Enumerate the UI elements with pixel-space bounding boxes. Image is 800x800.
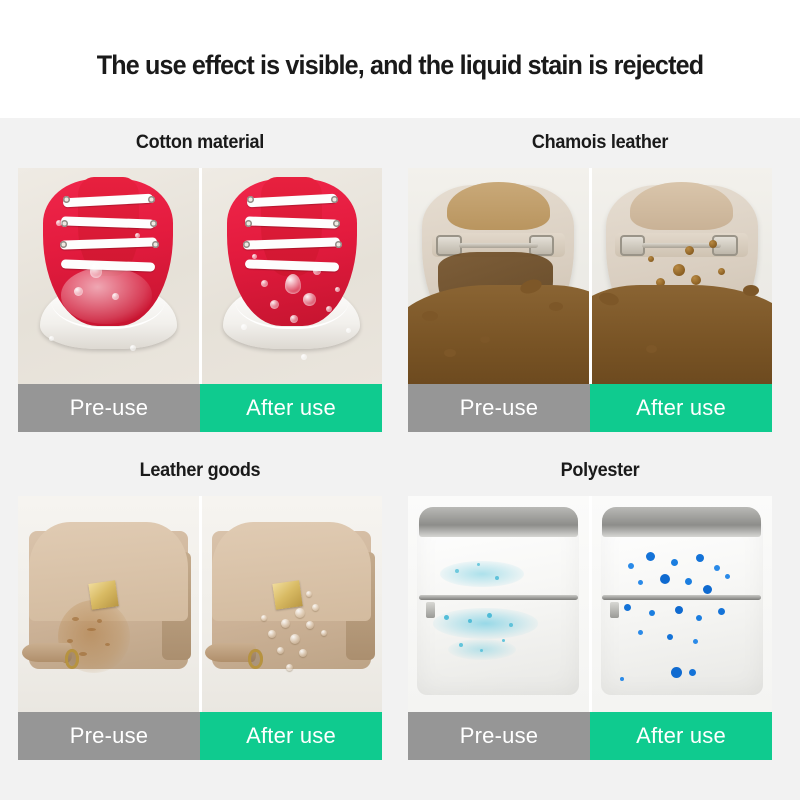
comparison-image-leather: Pre-use After use xyxy=(18,496,382,760)
pre-use-image-cotton xyxy=(18,168,199,384)
comparison-image-polyester: Pre-use After use xyxy=(408,496,772,760)
pre-use-image-chamois xyxy=(408,168,589,384)
after-use-image-cotton xyxy=(199,168,383,384)
image-halves-cotton xyxy=(18,168,382,384)
caption-after-use-chamois: After use xyxy=(590,384,772,432)
panel-chamois-leather: Chamois leather xyxy=(400,118,800,446)
panel-title-chamois: Chamois leather xyxy=(410,132,790,154)
after-use-image-chamois xyxy=(589,168,773,384)
caption-bar-cotton: Pre-use After use xyxy=(18,384,382,432)
caption-after-use-leather: After use xyxy=(200,712,382,760)
infographic-page: The use effect is visible, and the liqui… xyxy=(0,0,800,800)
caption-bar-chamois: Pre-use After use xyxy=(408,384,772,432)
panel-cotton-material: Cotton material xyxy=(0,118,400,446)
caption-bar-polyester: Pre-use After use xyxy=(408,712,772,760)
panel-title-cotton: Cotton material xyxy=(10,132,390,154)
caption-bar-leather: Pre-use After use xyxy=(18,712,382,760)
image-halves-leather xyxy=(18,496,382,712)
caption-after-use-polyester: After use xyxy=(590,712,772,760)
image-halves-chamois xyxy=(408,168,772,384)
comparison-grid: Cotton material xyxy=(0,118,800,800)
caption-pre-use-leather: Pre-use xyxy=(18,712,200,760)
caption-after-use-cotton: After use xyxy=(200,384,382,432)
comparison-image-cotton: Pre-use After use xyxy=(18,168,382,432)
caption-pre-use-chamois: Pre-use xyxy=(408,384,590,432)
header-band: The use effect is visible, and the liqui… xyxy=(0,0,800,118)
image-halves-polyester xyxy=(408,496,772,712)
caption-pre-use-polyester: Pre-use xyxy=(408,712,590,760)
pre-use-image-leather xyxy=(18,496,199,712)
caption-pre-use-cotton: Pre-use xyxy=(18,384,200,432)
page-title: The use effect is visible, and the liqui… xyxy=(28,50,772,81)
comparison-image-chamois: Pre-use After use xyxy=(408,168,772,432)
after-use-image-leather xyxy=(199,496,383,712)
after-use-image-polyester xyxy=(589,496,773,712)
panel-title-polyester: Polyester xyxy=(410,460,790,482)
panel-polyester: Polyester xyxy=(400,446,800,774)
panel-leather-goods: Leather goods xyxy=(0,446,400,774)
panel-title-leather: Leather goods xyxy=(10,460,390,482)
pre-use-image-polyester xyxy=(408,496,589,712)
